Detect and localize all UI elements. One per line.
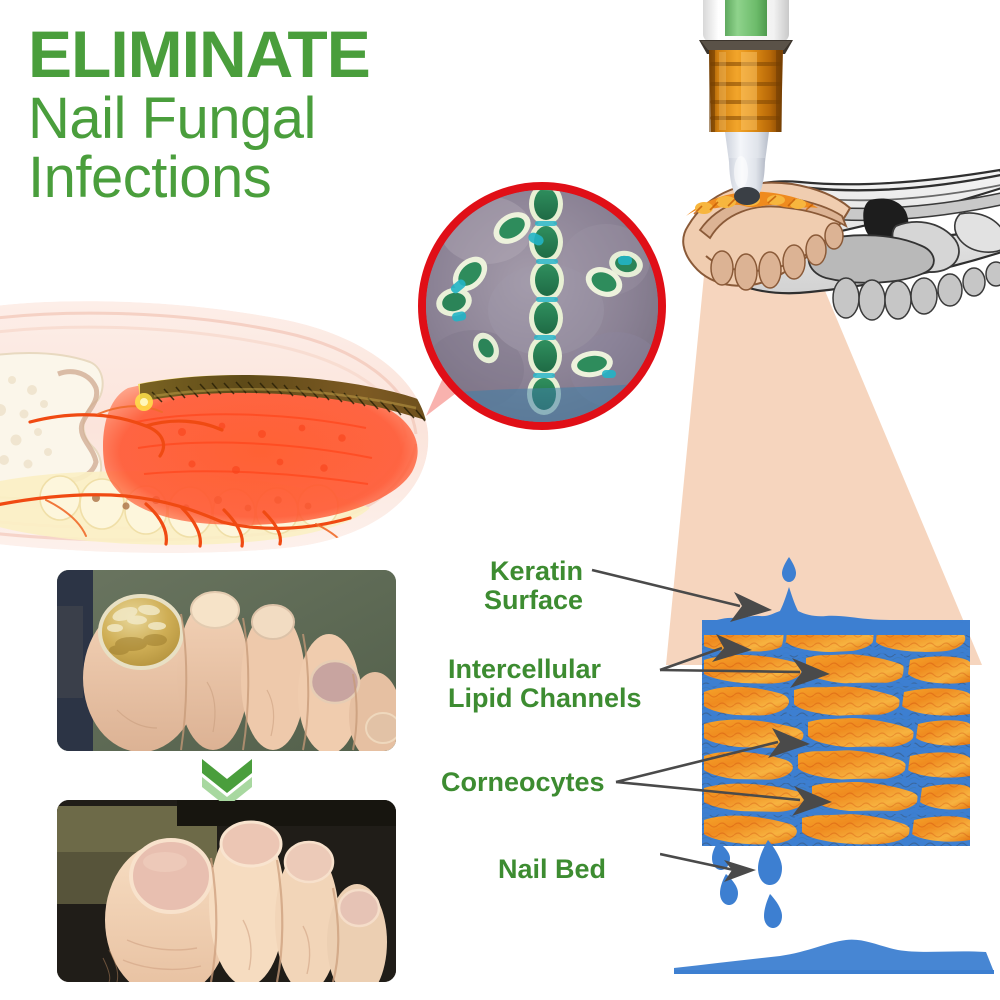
after-photo xyxy=(57,800,396,982)
label-keratin-surface-line1: Keratin xyxy=(484,557,583,586)
headline-line-2: Nail Fungal xyxy=(28,89,370,148)
serum-droplets xyxy=(712,840,782,928)
corneocyte-lipid-matrix xyxy=(702,620,970,846)
before-photo xyxy=(57,570,396,751)
serum-droplet-top xyxy=(782,557,796,582)
treatment-bottle xyxy=(689,0,809,230)
headline-line-1: ELIMINATE xyxy=(28,22,370,87)
label-nail-bed: Nail Bed xyxy=(498,855,606,884)
after-photo-image xyxy=(57,800,396,982)
before-photo-image xyxy=(57,570,396,751)
label-keratin-surface: Keratin Surface xyxy=(484,557,583,615)
label-keratin-surface-line2: Surface xyxy=(484,586,583,615)
fungal-spores-micrograph xyxy=(426,190,658,422)
label-corneocytes: Corneocytes xyxy=(441,768,605,797)
down-double-chevron-icon xyxy=(200,757,254,801)
nail-bed-layer xyxy=(660,840,1000,990)
headline-line-3: Infections xyxy=(28,148,370,207)
corneocyte-matrix-image xyxy=(702,620,970,846)
nail-bed-arrow xyxy=(660,854,756,882)
label-corneocytes-line1: Corneocytes xyxy=(441,768,605,797)
label-intercellular-lipid-channels: Intercellular Lipid Channels xyxy=(448,655,642,713)
label-intercellular-line2: Lipid Channels xyxy=(448,684,642,713)
microscope-view xyxy=(410,178,672,436)
page-title: ELIMINATE Nail Fungal Infections xyxy=(28,22,370,207)
label-intercellular-line1: Intercellular xyxy=(448,655,642,684)
label-nail-bed-line1: Nail Bed xyxy=(498,855,606,884)
microscope-ring xyxy=(418,182,666,430)
infographic-canvas: ELIMINATE Nail Fungal Infections xyxy=(0,0,1000,1000)
keratin-surface-layer xyxy=(660,545,1000,635)
